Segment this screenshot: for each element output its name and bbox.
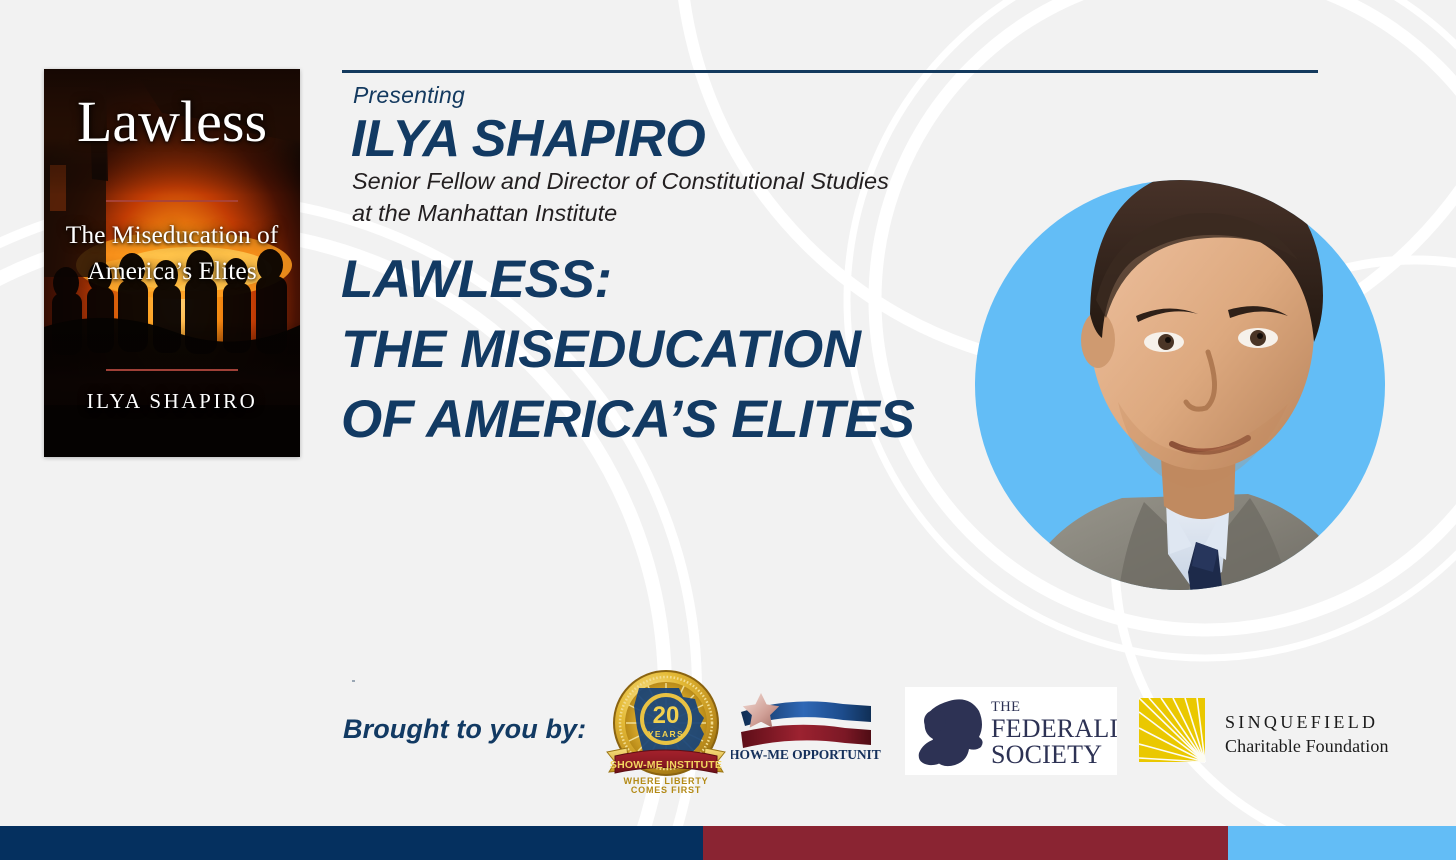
sinquefield-line-2: Charitable Foundation: [1225, 736, 1389, 756]
footer-band-blue: [1228, 826, 1456, 860]
fedsoc-line-1: THE: [991, 699, 1020, 715]
event-promo-graphic: Lawless The Miseducation of America’s El…: [0, 0, 1456, 860]
headshot-portrait: [975, 180, 1385, 590]
event-title: LAWLESS: THE MISEDUCATION OF AMERICA’S E…: [341, 245, 1041, 455]
speaker-headshot: [975, 180, 1385, 590]
fedsoc-line-2: FEDERALIST: [991, 714, 1117, 743]
book-title: Lawless: [44, 93, 300, 151]
headshot-blue-circle: [975, 180, 1385, 590]
book-rule-top: [106, 200, 238, 202]
sponsor-logo-show-me-opportunity[interactable]: SHOW-ME OPPORTUNITY: [731, 690, 881, 762]
event-title-line-2: THE MISEDUCATION: [341, 315, 1041, 385]
book-rule-bottom: [106, 369, 238, 371]
seal-banner-text: SHOW-ME INSTITUTE: [610, 759, 722, 771]
book-author: ILYA SHAPIRO: [44, 389, 300, 414]
footer-color-bands: [0, 826, 1456, 860]
header-divider: [342, 70, 1318, 73]
event-title-line-1: LAWLESS:: [341, 245, 1041, 315]
footer-band-maroon: [703, 826, 1228, 860]
book-cover: Lawless The Miseducation of America’s El…: [44, 69, 300, 457]
seal-tagline-line2: COMES FIRST: [631, 785, 701, 794]
seal-years-number: 20: [653, 702, 680, 729]
sponsor-logo-show-me-institute[interactable]: 20 YEARS SHOW-ME INSTITUTE WHERE LIBERTY…: [603, 666, 729, 794]
speaker-name: ILYA SHAPIRO: [351, 110, 705, 168]
fedsoc-line-3: SOCIETY: [991, 740, 1102, 769]
sponsor-logo-sinquefield[interactable]: SINQUEFIELD Charitable Foundation: [1139, 694, 1389, 766]
sponsor-logo-federalist-society[interactable]: THE FEDERALIST SOCIETY: [905, 687, 1117, 775]
sinquefield-line-1: SINQUEFIELD: [1225, 712, 1378, 732]
presenting-label: Presenting: [353, 82, 465, 109]
seal-years-word: YEARS: [648, 729, 684, 739]
book-subtitle: The Miseducation of America’s Elites: [44, 217, 300, 289]
smo-wordmark: SHOW-ME OPPORTUNITY: [731, 747, 881, 762]
brought-to-you-by-label: Brought to you by:: [343, 714, 586, 745]
dot-artifact: [352, 680, 355, 682]
speaker-title: Senior Fellow and Director of Constituti…: [352, 166, 912, 230]
footer-band-navy: [0, 826, 703, 860]
event-title-line-3: OF AMERICA’S ELITES: [341, 385, 1041, 455]
